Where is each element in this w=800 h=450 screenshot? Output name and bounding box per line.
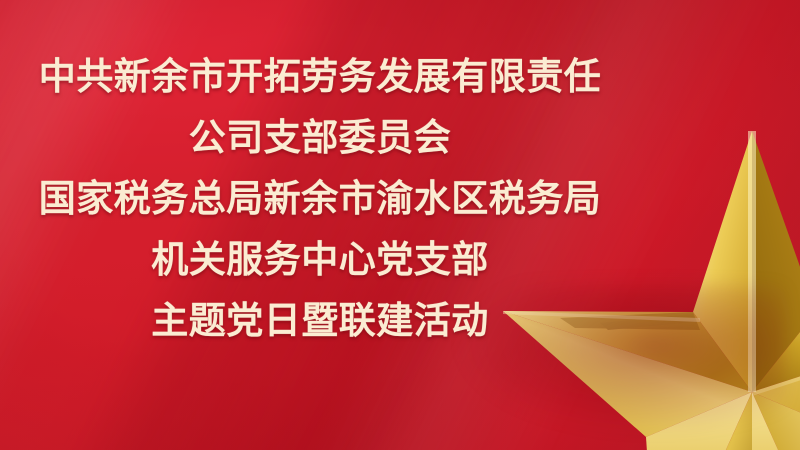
banner-title-block: 中共新余市开拓劳务发展有限责任 公司支部委员会 国家税务总局新余市渝水区税务局 … [0,46,640,351]
title-line-2: 公司支部委员会 [0,107,640,168]
title-line-4: 机关服务中心党支部 [0,229,640,290]
title-line-1: 中共新余市开拓劳务发展有限责任 [0,46,640,107]
banner-canvas: 中共新余市开拓劳务发展有限责任 公司支部委员会 国家税务总局新余市渝水区税务局 … [0,0,800,450]
title-line-3: 国家税务总局新余市渝水区税务局 [0,168,640,229]
title-line-5: 主题党日暨联建活动 [0,290,640,351]
